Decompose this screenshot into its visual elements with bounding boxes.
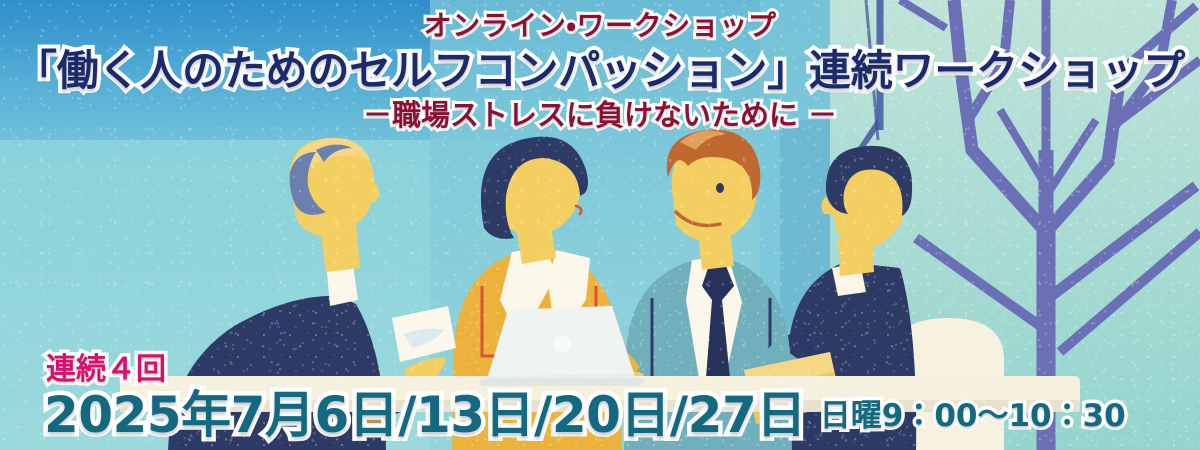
time-text: 日曜9：00〜10：30 — [820, 393, 1126, 443]
date-row: 2025年7月6日/13日/20日/27日 日曜9：00〜10：30 — [44, 388, 1126, 442]
subtitle-text: －職場ストレスに負けないために － — [0, 98, 1200, 133]
page-title: 「働く人のためのセルフコンパッション」連続ワークショップ — [0, 46, 1200, 96]
kicker-text: オンライン・ワークショップ — [0, 10, 1200, 42]
workshop-banner: オンライン・ワークショップ 「働く人のためのセルフコンパッション」連続ワークショ… — [0, 0, 1200, 450]
sessions-badge: 連続４回 — [46, 353, 1126, 386]
dates-text: 2025年7月6日/13日/20日/27日 — [44, 388, 806, 442]
headline-block: オンライン・ワークショップ 「働く人のためのセルフコンパッション」連続ワークショ… — [0, 10, 1200, 133]
schedule-block: 連続４回 2025年7月6日/13日/20日/27日 日曜9：00〜10：30 — [44, 353, 1126, 442]
